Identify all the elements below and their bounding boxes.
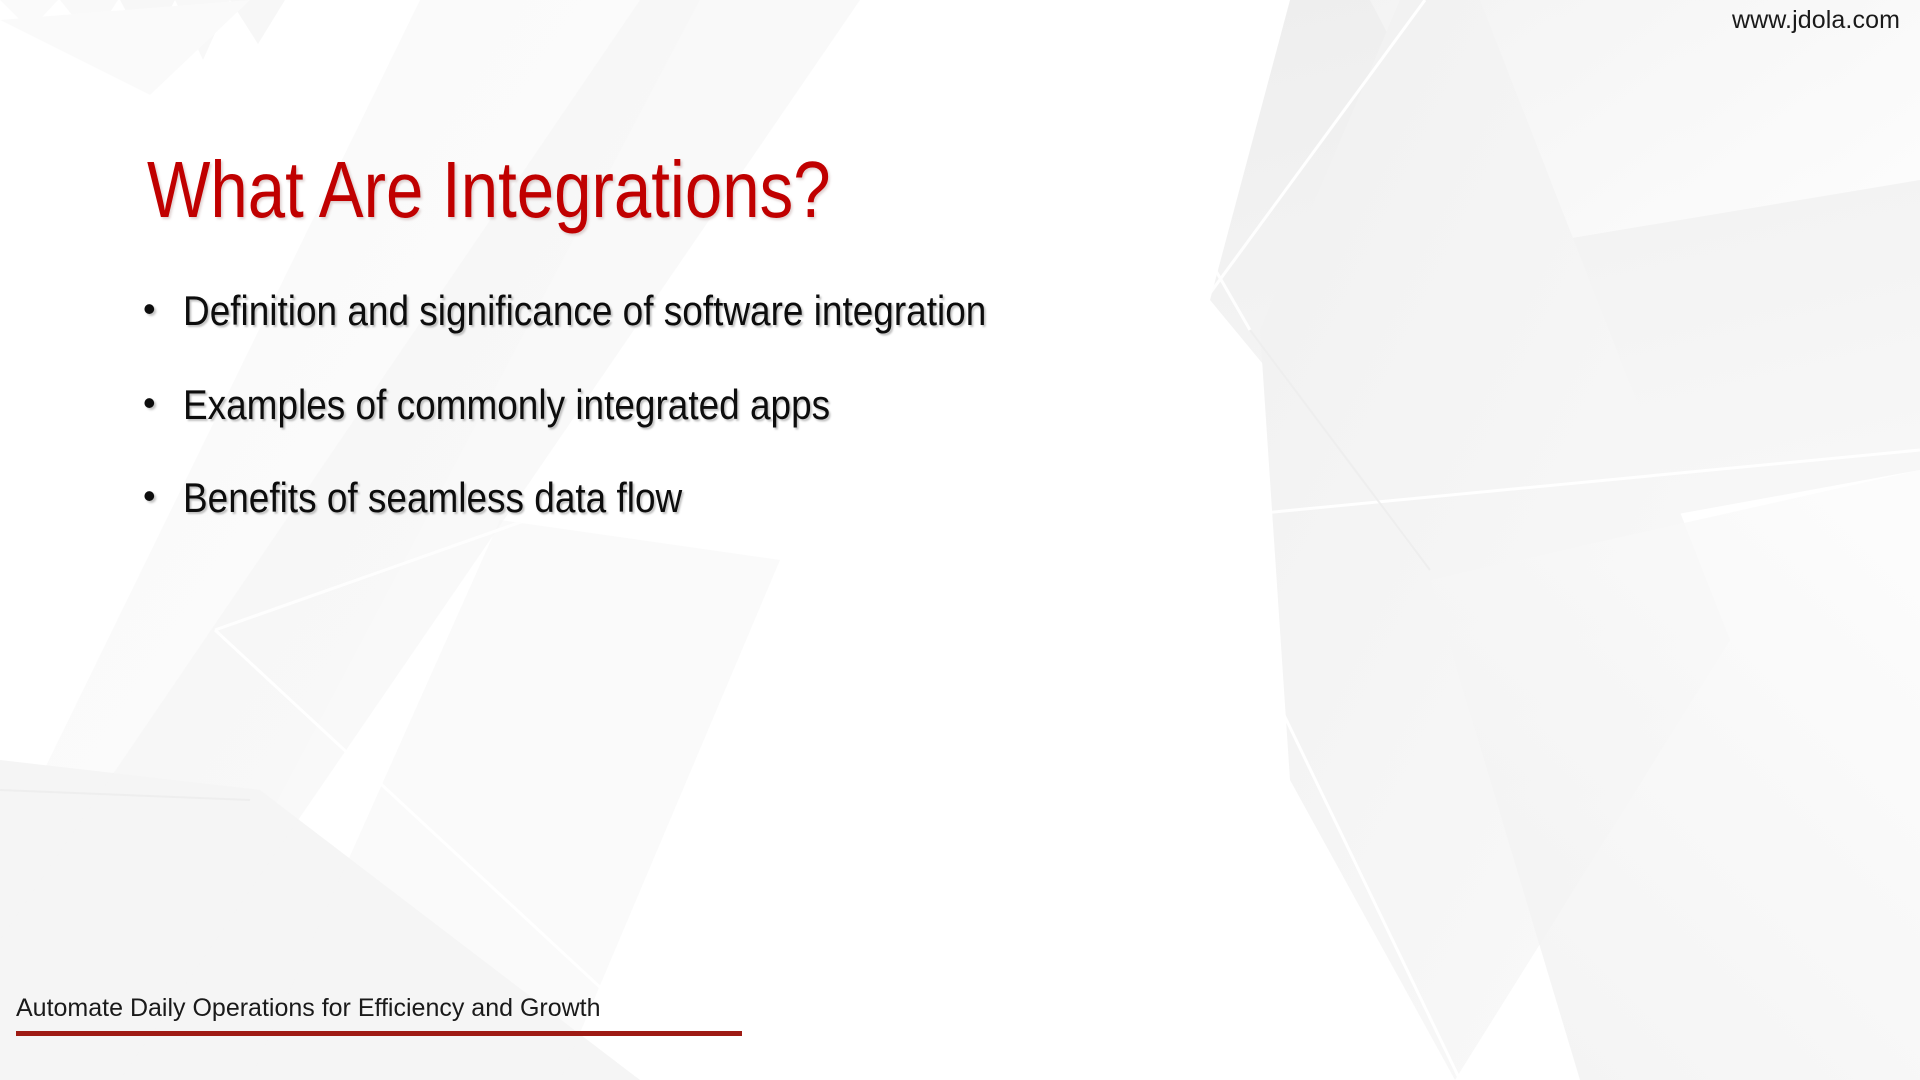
page-title: What Are Integrations? [147,150,831,230]
list-item-label: Benefits of seamless data flow [183,473,682,523]
header-website-url: www.jdola.com [1732,6,1900,35]
list-item: • Benefits of seamless data flow [143,473,1343,523]
bullet-marker-icon: • [143,286,183,331]
shape-lower-right-wedge [1430,470,1920,1080]
presentation-slide: www.jdola.com What Are Integrations? • D… [0,0,1920,1080]
slide-footer: Automate Daily Operations for Efficiency… [16,993,776,1036]
list-item-label: Definition and significance of software … [183,286,986,336]
bullet-marker-icon: • [143,473,183,518]
footer-divider [16,1031,742,1036]
list-item-label: Examples of commonly integrated apps [183,380,830,430]
footer-tagline: Automate Daily Operations for Efficiency… [16,993,776,1023]
sawtooth-pattern [0,0,285,95]
list-item: • Examples of commonly integrated apps [143,380,1343,430]
bullet-marker-icon: • [143,380,183,425]
list-item: • Definition and significance of softwar… [143,286,1343,336]
bullet-list: • Definition and significance of softwar… [143,286,1343,567]
shape-right-panel-upper [1370,0,1920,250]
